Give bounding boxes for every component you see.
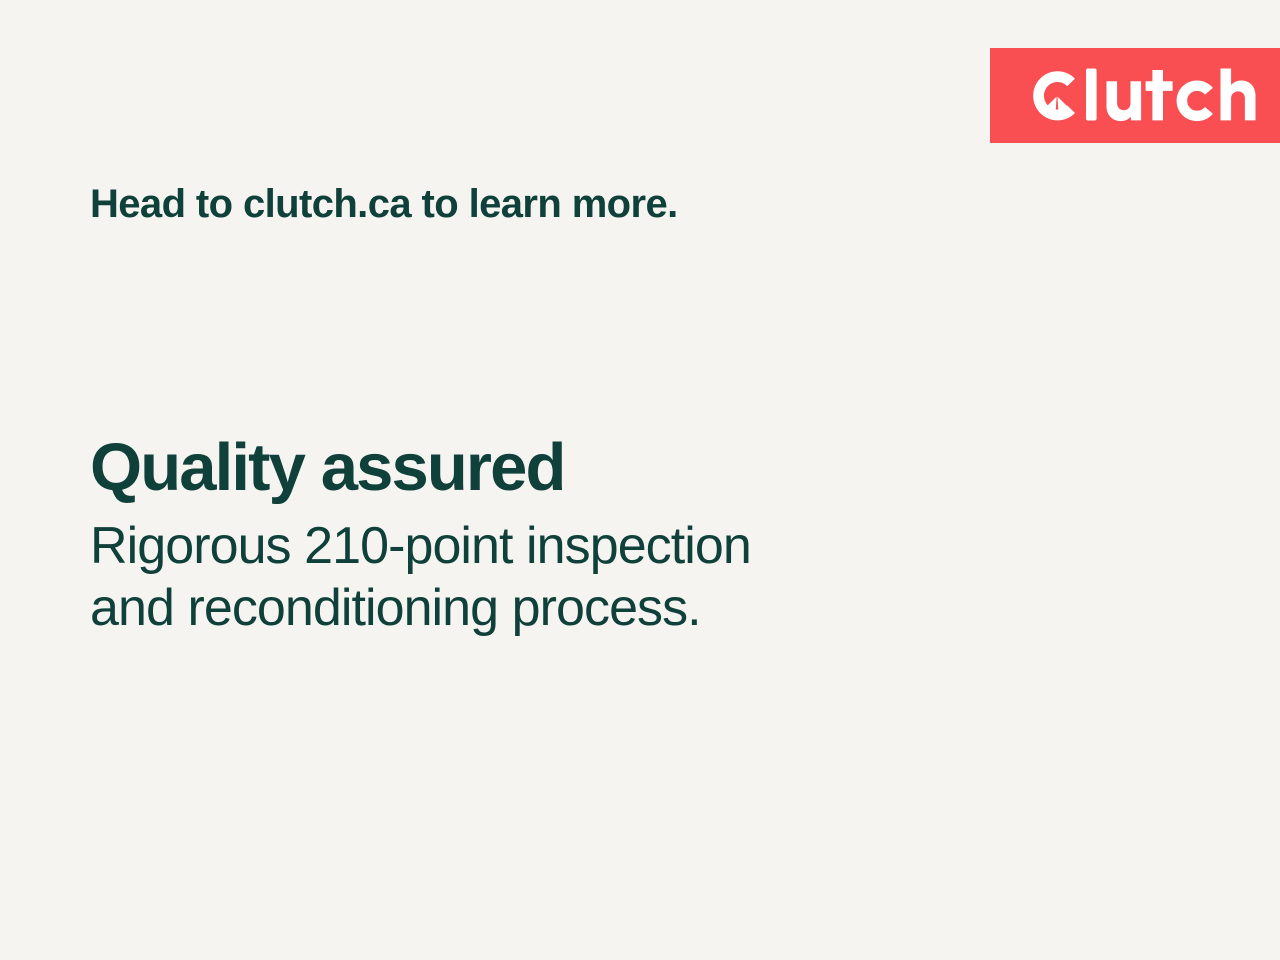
headline-group: Quality assured Rigorous 210-point inspe… [90, 434, 1070, 639]
page-title: Quality assured [90, 434, 1070, 502]
clutch-wordmark [1028, 66, 1256, 126]
lede-text: Head to clutch.ca to learn more. [90, 182, 678, 227]
subcopy: Rigorous 210-point inspection and recond… [90, 516, 1070, 639]
clutch-c-pie-icon [1028, 66, 1256, 126]
brand-logo-block[interactable] [990, 48, 1280, 143]
slide-canvas: Head to clutch.ca to learn more. Quality… [0, 0, 1280, 960]
subcopy-line-2: and reconditioning process. [90, 578, 1070, 639]
subcopy-line-1: Rigorous 210-point inspection [90, 516, 1070, 577]
